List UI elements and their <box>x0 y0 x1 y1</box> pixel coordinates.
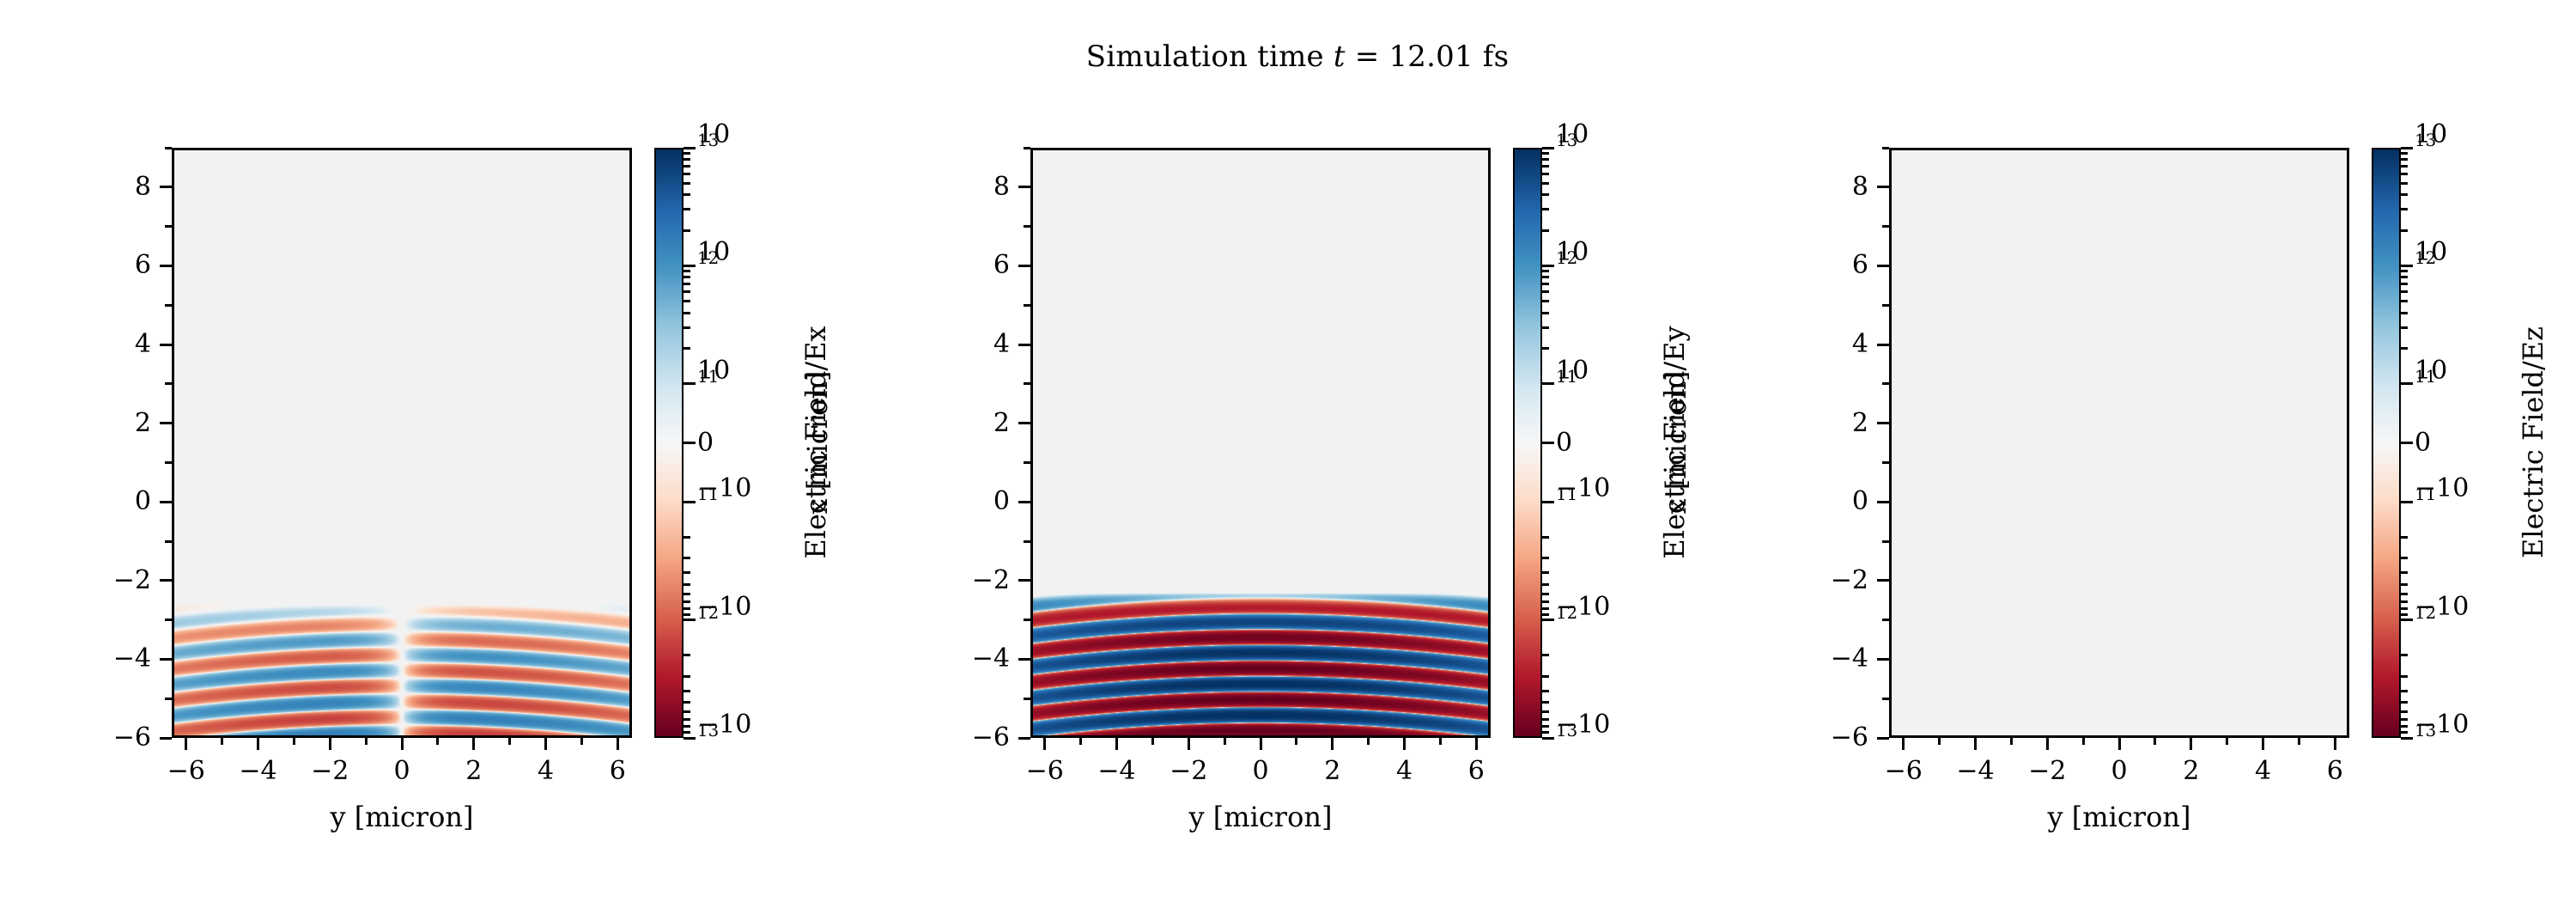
x-tick-major <box>2118 738 2121 750</box>
y-tick-minor <box>1024 147 1030 149</box>
y-tick-minor <box>1024 540 1030 543</box>
plot-panel-ez: 86420−2−4−6 −6−4−20246 x [micron] y [mic… <box>1717 0 2576 902</box>
x-tick-label: −6 <box>1885 758 1923 785</box>
colorbar-gradient-ez <box>2373 149 2399 736</box>
x-tick-label: −2 <box>1170 758 1207 785</box>
colorbar-tick-minor <box>2401 229 2408 232</box>
colorbar-tick-minor <box>683 290 690 293</box>
colorbar-tick-minor <box>1542 675 1549 678</box>
colorbar-tick-minor <box>2401 710 2408 713</box>
y-tick-major <box>1877 658 1889 661</box>
colorbar-tick-labels-ey: 1013101210110−1011−1012−1013 <box>1556 0 1728 902</box>
y-tick-major <box>1877 265 1889 267</box>
y-tick-major <box>160 265 172 267</box>
y-tick-major <box>1018 186 1030 188</box>
colorbar-tick-minor <box>1542 718 1549 721</box>
colorbar-tick-minor <box>683 675 690 678</box>
y-tick-major <box>1018 265 1030 267</box>
x-tick-label: −4 <box>239 758 276 785</box>
colorbar-tick-label: −1012 <box>697 607 719 633</box>
colorbar-tick-minor <box>2401 165 2408 168</box>
colorbar-tick-labels-ez: 1013101210110−1011−1012−1013 <box>2415 0 2576 902</box>
colorbar-tick-major <box>683 619 696 621</box>
x-tick-major <box>329 738 331 750</box>
x-tick-major <box>617 738 619 750</box>
colorbar-tick-mantissa: 10 <box>697 240 730 265</box>
colorbar-tick-minor <box>1542 229 1549 232</box>
colorbar-tick-minor <box>683 193 690 196</box>
colorbar-tick-minor <box>683 270 690 272</box>
colorbar-tick-minor <box>1542 290 1549 293</box>
colorbar-tick-minor <box>1542 326 1549 329</box>
colorbar-tick-label: 1012 <box>697 253 719 278</box>
colorbar-tick-minor <box>2401 270 2408 272</box>
colorbar-tick-minor <box>1542 173 1549 175</box>
colorbar-tick-minor <box>683 701 690 704</box>
x-tick-major <box>2046 738 2049 750</box>
colorbar-tick-mantissa: 10 <box>2415 240 2447 265</box>
y-tick-minor <box>165 619 172 621</box>
colorbar-tick-mantissa: −10 <box>1556 712 1610 738</box>
colorbar-tick-minor <box>2401 583 2408 586</box>
colorbar-tick-major <box>2401 147 2413 149</box>
colorbar-tick-minor <box>2401 193 2408 196</box>
colorbar-tick-minor <box>1542 690 1549 692</box>
colorbar-tick-minor <box>1542 312 1549 314</box>
x-tick-major <box>1974 738 1977 750</box>
colorbar-tick-minor <box>683 347 690 350</box>
x-tick-minor <box>1079 738 1082 745</box>
y-tick-minor <box>1882 619 1889 621</box>
x-tick-major <box>185 738 187 750</box>
x-tick-minor <box>1938 738 1941 745</box>
colorbar-tick-mantissa: 10 <box>2415 122 2447 148</box>
colorbar-tick-minor <box>683 165 690 168</box>
colorbar-tick-mantissa: −10 <box>697 712 751 738</box>
colorbar-tick-major <box>683 265 696 267</box>
x-tick-minor <box>580 738 583 745</box>
y-tick-major <box>160 658 172 661</box>
colorbar-tick-mantissa: −10 <box>697 476 751 502</box>
colorbar-tick-major <box>2401 265 2413 267</box>
y-tick-major <box>1018 737 1030 740</box>
x-axis-label-ex: y [micron] <box>331 801 474 833</box>
x-tick-label: 2 <box>2183 758 2199 785</box>
colorbar-tick-minor <box>683 725 690 728</box>
colorbar-tick-minor <box>2401 326 2408 329</box>
colorbar-tick-minor <box>683 690 690 692</box>
x-tick-minor <box>1439 738 1442 745</box>
colorbar-tick-label: 1013 <box>1556 135 1577 161</box>
y-tick-minor <box>1882 147 1889 149</box>
plot-panel-ex: 86420−2−4−6 −6−4−20246 x [micron] y [mic… <box>0 0 859 902</box>
colorbar-tick-minor <box>2401 290 2408 293</box>
y-tick-major <box>1877 344 1889 346</box>
y-tick-minor <box>165 698 172 700</box>
y-tick-minor <box>1024 225 1030 228</box>
colorbar-tick-major <box>683 147 696 149</box>
x-tick-label: 4 <box>1396 758 1413 785</box>
colorbar-tick-major <box>1542 382 1554 385</box>
colorbar-label-ez: Electric Field/Ez <box>2517 262 2549 623</box>
x-tick-major <box>472 738 475 750</box>
y-tick-minor <box>1882 698 1889 700</box>
colorbar-tick-minor <box>1542 600 1549 603</box>
y-tick-minor <box>1024 461 1030 464</box>
colorbar-gradient-ey <box>1515 149 1540 736</box>
x-axis-label-ey: y [micron] <box>1189 801 1333 833</box>
x-tick-major <box>1331 738 1334 750</box>
colorbar-tick-minor <box>1542 300 1549 302</box>
colorbar-tick-minor <box>683 557 690 559</box>
colorbar-tick-label: −1012 <box>1556 607 1577 633</box>
colorbar-tick-minor <box>1542 158 1549 161</box>
colorbar-tick-major <box>2401 382 2413 385</box>
x-tick-label: 6 <box>1468 758 1485 785</box>
y-tick-minor <box>1882 225 1889 228</box>
colorbar-tick-major <box>683 382 696 385</box>
colorbar-tick-mantissa: −10 <box>1556 594 1610 620</box>
colorbar-tick-minor <box>1542 276 1549 278</box>
colorbar-tick-minor <box>683 536 690 539</box>
y-tick-minor <box>165 304 172 307</box>
colorbar-gradient-ex <box>656 149 682 736</box>
colorbar-tick-minor <box>1542 725 1549 728</box>
x-tick-minor <box>2082 738 2085 745</box>
y-tick-major <box>160 579 172 582</box>
colorbar-tick-major <box>2401 619 2413 621</box>
colorbar-tick-minor <box>2401 182 2408 185</box>
colorbar-tick-minor <box>2401 300 2408 302</box>
colorbar-tick-minor <box>683 152 690 155</box>
y-tick-minor <box>165 461 172 464</box>
y-tick-minor <box>1882 540 1889 543</box>
colorbar-bar-ez <box>2372 148 2401 738</box>
x-tick-major <box>2334 738 2336 750</box>
x-tick-label: −4 <box>1956 758 1994 785</box>
colorbar-tick-minor <box>2401 675 2408 678</box>
y-tick-minor <box>1882 382 1889 385</box>
colorbar-tick-minor <box>683 607 690 610</box>
colorbar-tick-major <box>683 501 696 503</box>
colorbar-tick-label: 1011 <box>2415 371 2436 397</box>
colorbar-tick-major <box>2401 442 2413 444</box>
y-tick-major <box>1877 422 1889 424</box>
x-tick-label: 0 <box>2111 758 2127 785</box>
colorbar-tick-minor <box>2401 152 2408 155</box>
y-tick-minor <box>1024 304 1030 307</box>
x-tick-label: −2 <box>311 758 349 785</box>
colorbar-tick-label: 1011 <box>697 371 719 397</box>
colorbar-tick-minor <box>683 300 690 302</box>
colorbar-tick-minor <box>1542 583 1549 586</box>
colorbar-tick-minor <box>2401 718 2408 721</box>
colorbar-tick-minor <box>2401 654 2408 656</box>
colorbar-tick-minor <box>683 718 690 721</box>
colorbar-tick-minor <box>683 312 690 314</box>
colorbar-tick-major <box>683 442 696 444</box>
colorbar-tick-minor <box>1542 613 1549 616</box>
colorbar-tick-label: −1012 <box>2415 607 2436 633</box>
colorbar-tick-minor <box>683 583 690 586</box>
colorbar-tick-minor <box>2401 536 2408 539</box>
colorbar-tick-major <box>2401 737 2413 740</box>
x-tick-major <box>2190 738 2192 750</box>
x-tick-minor <box>1367 738 1370 745</box>
colorbar-tick-major <box>2401 501 2413 503</box>
x-tick-major <box>1403 738 1406 750</box>
colorbar-tick-mantissa: −10 <box>2415 594 2469 620</box>
colorbar-tick-minor <box>1542 654 1549 656</box>
colorbar-tick-label: 1013 <box>697 135 719 161</box>
x-tick-minor <box>1151 738 1154 745</box>
x-tick-minor <box>2226 738 2228 745</box>
colorbar-tick-minor <box>2401 607 2408 610</box>
y-tick-major <box>160 186 172 188</box>
colorbar-tick-label: 0 <box>2415 430 2431 456</box>
colorbar-tick-minor <box>1542 593 1549 595</box>
colorbar-tick-minor <box>683 283 690 285</box>
colorbar-ey <box>1513 148 1542 738</box>
colorbar-tick-minor <box>2401 725 2408 728</box>
colorbar-tick-minor <box>2401 283 2408 285</box>
colorbar-tick-mantissa: 10 <box>1556 122 1589 148</box>
x-tick-label: −4 <box>1097 758 1135 785</box>
x-tick-major <box>1043 738 1046 750</box>
colorbar-tick-label: −1011 <box>1556 489 1577 515</box>
colorbar-tick-minor <box>683 593 690 595</box>
colorbar-tick-label: 0 <box>1556 430 1572 456</box>
y-tick-minor <box>1024 619 1030 621</box>
colorbar-tick-major <box>1542 501 1554 503</box>
colorbar-tick-minor <box>1542 607 1549 610</box>
y-tick-major <box>1877 737 1889 740</box>
colorbar-tick-mantissa: −10 <box>2415 712 2469 738</box>
x-tick-major <box>1115 738 1118 750</box>
y-tick-major <box>1018 422 1030 424</box>
x-tick-major <box>1475 738 1478 750</box>
y-tick-major <box>1018 501 1030 503</box>
colorbar-tick-minor <box>1542 283 1549 285</box>
x-tick-major <box>544 738 547 750</box>
colorbar-tick-labels-ex: 1013101210110−1011−1012−1013 <box>697 0 869 902</box>
colorbar-tick-mantissa: 10 <box>697 358 730 384</box>
colorbar-tick-minor <box>2401 731 2408 734</box>
colorbar-tick-mantissa: −10 <box>697 594 751 620</box>
x-axis-label-ez: y [micron] <box>2048 801 2191 833</box>
colorbar-tick-minor <box>2401 276 2408 278</box>
colorbar-tick-label: 1012 <box>2415 253 2436 278</box>
colorbar-tick-minor <box>683 158 690 161</box>
colorbar-tick-minor <box>1542 270 1549 272</box>
colorbar-tick-label: 1013 <box>2415 135 2436 161</box>
colorbar-tick-mantissa: −10 <box>2415 476 2469 502</box>
colorbar-tick-minor <box>2401 600 2408 603</box>
colorbar-tick-minor <box>1542 731 1549 734</box>
x-tick-label: 0 <box>393 758 410 785</box>
colorbar-tick-minor <box>1542 710 1549 713</box>
colorbar-tick-label: 0 <box>697 430 714 456</box>
x-tick-minor <box>2154 738 2156 745</box>
x-tick-label: 6 <box>2327 758 2343 785</box>
colorbar-tick-minor <box>2401 613 2408 616</box>
colorbar-tick-major <box>1542 442 1554 444</box>
colorbar-tick-minor <box>1542 571 1549 574</box>
y-tick-major <box>1877 501 1889 503</box>
x-tick-major <box>401 738 404 750</box>
colorbar-tick-major <box>1542 265 1554 267</box>
x-tick-label: 0 <box>1252 758 1268 785</box>
x-tick-minor <box>1295 738 1297 745</box>
x-tick-label: 6 <box>610 758 626 785</box>
y-tick-minor <box>1024 382 1030 385</box>
colorbar-tick-label: −1013 <box>1556 725 1577 751</box>
colorbar-tick-minor <box>1542 557 1549 559</box>
colorbar-tick-minor <box>1542 182 1549 185</box>
y-tick-minor <box>165 540 172 543</box>
colorbar-tick-major <box>683 737 696 740</box>
colorbar-tick-mantissa: 10 <box>1556 358 1589 384</box>
y-tick-major <box>1877 186 1889 188</box>
y-tick-minor <box>1882 461 1889 464</box>
x-tick-major <box>1902 738 1905 750</box>
colorbar-tick-label: −1011 <box>697 489 719 515</box>
y-tick-major <box>160 422 172 424</box>
colorbar-tick-minor <box>1542 193 1549 196</box>
colorbar-tick-minor <box>683 208 690 210</box>
x-tick-minor <box>293 738 295 745</box>
y-tick-major <box>1018 579 1030 582</box>
colorbar-tick-minor <box>1542 208 1549 210</box>
colorbar-tick-minor <box>1542 536 1549 539</box>
x-tick-label: 4 <box>2255 758 2271 785</box>
x-tick-major <box>1188 738 1190 750</box>
x-tick-minor <box>508 738 511 745</box>
y-axis-label-ey: x [micron] <box>801 314 834 571</box>
colorbar-tick-minor <box>1542 152 1549 155</box>
colorbar-tick-major <box>1542 737 1554 740</box>
colorbar-tick-minor <box>2401 571 2408 574</box>
colorbar-tick-minor <box>683 613 690 616</box>
colorbar-tick-minor <box>1542 347 1549 350</box>
x-tick-minor <box>221 738 223 745</box>
colorbar-bar-ey <box>1513 148 1542 738</box>
x-tick-minor <box>2298 738 2300 745</box>
colorbar-tick-minor <box>683 182 690 185</box>
colorbar-tick-minor <box>683 731 690 734</box>
colorbar-tick-minor <box>683 229 690 232</box>
colorbar-tick-label: −1013 <box>2415 725 2436 751</box>
colorbar-tick-minor <box>2401 208 2408 210</box>
x-tick-label: 2 <box>465 758 482 785</box>
plot-panel-ey: 86420−2−4−6 −6−4−20246 x [micron] y [mic… <box>859 0 1717 902</box>
x-tick-minor <box>1224 738 1226 745</box>
colorbar-tick-mantissa: −10 <box>1556 476 1610 502</box>
colorbar-tick-mantissa: 10 <box>697 122 730 148</box>
x-tick-label: 4 <box>538 758 554 785</box>
x-tick-label: 2 <box>1324 758 1340 785</box>
colorbar-tick-minor <box>2401 312 2408 314</box>
colorbar-tick-major <box>1542 619 1554 621</box>
colorbar-tick-minor <box>1542 701 1549 704</box>
y-tick-major <box>1877 579 1889 582</box>
y-tick-minor <box>1024 698 1030 700</box>
x-tick-minor <box>365 738 368 745</box>
y-tick-major <box>160 344 172 346</box>
y-tick-major <box>1018 344 1030 346</box>
colorbar-tick-minor <box>683 571 690 574</box>
x-tick-major <box>257 738 259 750</box>
y-tick-minor <box>165 225 172 228</box>
colorbar-tick-minor <box>683 276 690 278</box>
y-tick-minor <box>1882 304 1889 307</box>
colorbar-ex <box>654 148 683 738</box>
colorbar-tick-minor <box>2401 173 2408 175</box>
y-tick-minor <box>165 147 172 149</box>
y-tick-major <box>160 501 172 503</box>
colorbar-tick-minor <box>2401 701 2408 704</box>
colorbar-tick-minor <box>2401 347 2408 350</box>
colorbar-tick-minor <box>683 173 690 175</box>
colorbar-tick-mantissa: 10 <box>1556 240 1589 265</box>
x-tick-minor <box>2010 738 2013 745</box>
x-tick-label: −6 <box>1026 758 1064 785</box>
colorbar-tick-label: −1011 <box>2415 489 2436 515</box>
colorbar-tick-label: 1011 <box>1556 371 1577 397</box>
colorbar-tick-label: 1012 <box>1556 253 1577 278</box>
y-tick-major <box>160 737 172 740</box>
x-tick-major <box>2262 738 2264 750</box>
y-tick-minor <box>165 382 172 385</box>
colorbar-tick-minor <box>2401 593 2408 595</box>
colorbar-tick-minor <box>683 326 690 329</box>
x-tick-minor <box>436 738 439 745</box>
colorbar-tick-mantissa: 10 <box>2415 358 2447 384</box>
colorbar-tick-minor <box>683 600 690 603</box>
colorbar-tick-minor <box>2401 557 2408 559</box>
colorbar-tick-minor <box>1542 165 1549 168</box>
y-tick-major <box>1018 658 1030 661</box>
colorbar-tick-minor <box>683 654 690 656</box>
y-axis-label-ez: x [micron] <box>1660 314 1692 571</box>
colorbar-tick-minor <box>2401 158 2408 161</box>
colorbar-tick-label: −1013 <box>697 725 719 751</box>
x-tick-label: −6 <box>167 758 205 785</box>
colorbar-tick-minor <box>683 710 690 713</box>
colorbar-ez <box>2372 148 2401 738</box>
colorbar-bar-ex <box>654 148 683 738</box>
x-tick-major <box>1260 738 1262 750</box>
colorbar-tick-minor <box>2401 690 2408 692</box>
x-tick-label: −2 <box>2028 758 2066 785</box>
colorbar-tick-major <box>1542 147 1554 149</box>
